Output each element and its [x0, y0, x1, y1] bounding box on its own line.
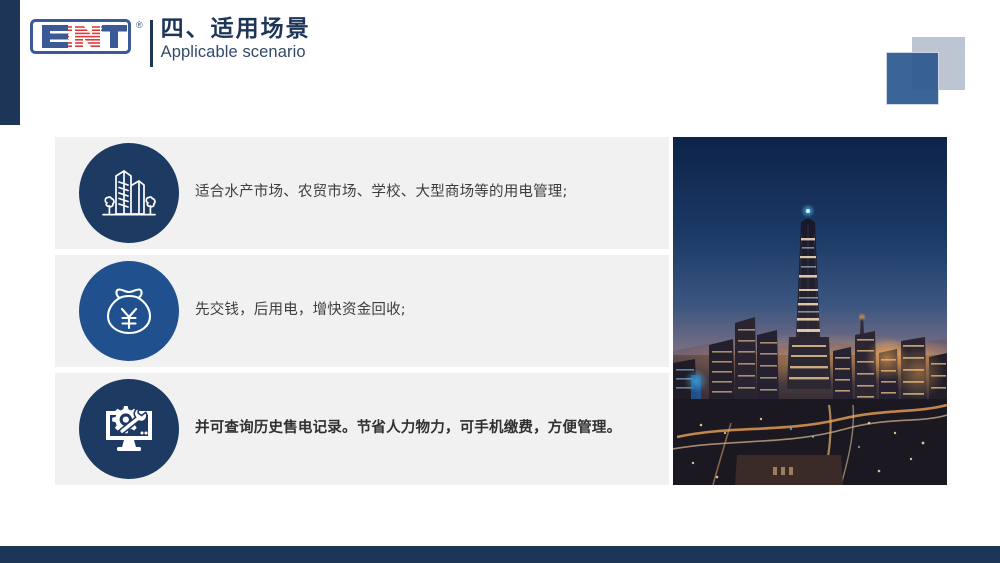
- feature-text: 先交钱，后用电，增快资金回收;: [195, 255, 659, 367]
- title-text-group: 四、适用场景 Applicable scenario: [161, 16, 311, 62]
- building-city-icon: [79, 143, 179, 243]
- feature-row: 适合水产市场、农贸市场、学校、大型商场等的用电管理;: [55, 137, 669, 249]
- page-title-en: Applicable scenario: [161, 43, 311, 62]
- decorative-square-dark: [886, 52, 939, 105]
- night-cityscape-skyline-photo: [673, 137, 947, 485]
- registered-trademark-symbol: ®: [136, 21, 143, 30]
- feature-text: 并可查询历史售电记录。节省人力物力，可手机缴费，方便管理。: [195, 373, 659, 485]
- feature-list: 适合水产市场、农贸市场、学校、大型商场等的用电管理;: [55, 137, 669, 485]
- money-bag-yuan-icon: [79, 261, 179, 361]
- feature-text: 适合水产市场、农贸市场、学校、大型商场等的用电管理;: [195, 137, 659, 249]
- feature-row: 先交钱，后用电，增快资金回收;: [55, 255, 669, 367]
- ent-logo-icon: [30, 19, 134, 54]
- slide-canvas: ® 四、适用场景 Applicable scenario: [0, 0, 1000, 563]
- page-title-cn: 四、适用场景: [161, 16, 311, 43]
- monitor-gear-wrench-icon: [79, 379, 179, 479]
- feature-row: 并可查询历史售电记录。节省人力物力，可手机缴费，方便管理。: [55, 373, 669, 485]
- footer-bar: [0, 546, 1000, 563]
- header-accent-bar: [0, 0, 20, 125]
- title-divider: [150, 20, 153, 67]
- brand-and-title-block: ® 四、适用场景 Applicable scenario: [30, 19, 311, 67]
